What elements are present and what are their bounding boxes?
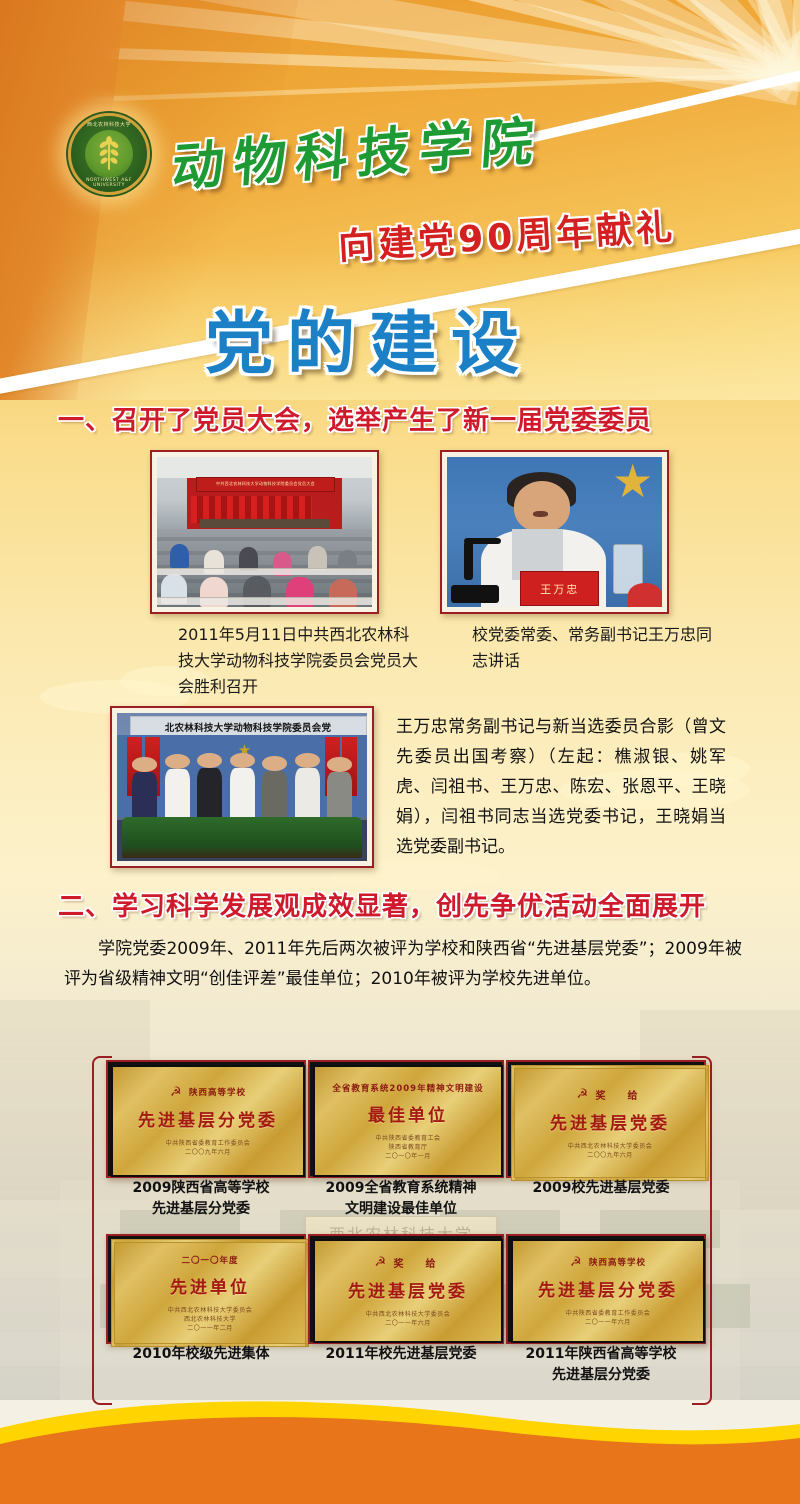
plaque-issuer-line: 中共西北农林科技大学委员会 (168, 1306, 253, 1315)
plaque-caption: 2009校先进基层党委 (506, 1178, 696, 1199)
hammer-sickle-icon: ☭ (170, 1086, 183, 1099)
plaque-face: 二〇一〇年度先进单位中共西北农林科技大学委员会西北农林科技大学二〇一一年二月 (111, 1239, 309, 1347)
plaque-main-text: 最佳单位 (368, 1101, 448, 1126)
plaque-face: 全省教育系统2009年精神文明建设最佳单位中共陕西省委教育工会陕西省教育厅二〇一… (313, 1065, 503, 1177)
plaque-top-text: 奖 给 (596, 1087, 644, 1102)
award-2009-best-unit-spiritual-civilization: 全省教育系统2009年精神文明建设最佳单位中共陕西省委教育工会陕西省教育厅二〇一… (308, 1060, 504, 1178)
plaque-issuer-and-date: 中共陕西省委教育工作委员会二〇一一年六月 (566, 1309, 651, 1327)
plaque-top-line: ☭陕西高等学校 (570, 1256, 646, 1269)
group-photo-caption: 王万忠常务副书记与新当选委员合影（曾文先委员出国考察）（左起：樵淑银、姚军虎、闫… (396, 712, 726, 862)
new-committee-group-photo: 北农林科技大学动物科技学院委员会党 ★ (110, 706, 374, 868)
plaque-main-text: 先进基层党委 (348, 1277, 468, 1302)
party-member-congress-photo: 中共西北农林科技大学动物科技学院委员会党员大会 ★ (150, 450, 379, 614)
section-1-heading: 一、召开了党员大会，选举产生了新一届党委委员 (58, 400, 652, 437)
plaque-face: ☭奖 给先进基层党委中共西北农林科技大学委员会二〇一一年六月 (313, 1239, 503, 1343)
speaker-photo-caption: 校党委常委、常务副书记王万忠同志讲话 (472, 622, 722, 674)
emblem-top-text: 西北农林科技大学 (71, 121, 147, 128)
person-1 (132, 757, 157, 822)
university-emblem-icon: 西北农林科技大学 NORTHWEST A&F UNIVERSITY (68, 113, 150, 195)
person-4 (230, 753, 255, 823)
plaque-date: 二〇〇九年六月 (568, 1151, 653, 1160)
plaque-caption: 2009陕西省高等学校先进基层分党委 (106, 1178, 296, 1220)
plaque-top-line: 全省教育系统2009年精神文明建设 (332, 1082, 483, 1094)
emblem-bottom-text: NORTHWEST A&F UNIVERSITY (71, 178, 147, 188)
award-2011-school-advanced-grassroots-party-committee: ☭奖 给先进基层党委中共西北农林科技大学委员会二〇一一年六月 (308, 1234, 504, 1344)
plaque-issuer-line: 西北农林科技大学 (168, 1315, 253, 1324)
plaque-issuer-and-date: 中共陕西省委教育工会陕西省教育厅二〇一〇年一月 (375, 1134, 440, 1161)
person-6 (295, 753, 320, 823)
plaque-top-line: ☭陕西高等学校 (170, 1086, 246, 1099)
plaque-top-line: ☭奖 给 (375, 1255, 442, 1270)
section-2-paragraph: 学院党委2009年、2011年先后两次被评为学校和陕西省“先进基层党委”；200… (64, 934, 742, 994)
plaque-face: ☭奖 给先进基层党委中共西北农林科技大学委员会二〇〇九年六月 (511, 1065, 709, 1181)
meeting-banner-text: 中共西北农林科技大学动物科技学院委员会党员大会 (196, 477, 336, 493)
plaque-caption-line: 先进基层分党委 (106, 1199, 296, 1220)
plaque-main-text: 先进基层分党委 (138, 1106, 278, 1131)
plaque-issuer-line: 中共陕西省委教育工会 (375, 1134, 440, 1143)
meeting-photo-content: 中共西北农林科技大学动物科技学院委员会党员大会 ★ (157, 457, 372, 607)
plaque-date: 二〇〇九年六月 (166, 1148, 251, 1157)
plaque-issuer-and-date: 中共西北农林科技大学委员会二〇一一年六月 (366, 1310, 451, 1328)
plaque-caption-line: 2011年校先进基层党委 (308, 1344, 494, 1365)
poster-canvas: 西北农林科技大学 西北农林科技大学 NORTHWEST A&F UNIVERSI… (0, 0, 800, 1504)
hammer-sickle-icon: ☭ (577, 1088, 590, 1101)
plaque-issuer-line: 中共陕西省委教育工作委员会 (166, 1139, 251, 1148)
wang-wanzhong-speech-photo: ★ 王万忠 (440, 450, 669, 614)
group-photo-banner-text: 北农林科技大学动物科技学院委员会党 (130, 716, 367, 737)
plaque-main-text: 先进基层分党委 (538, 1276, 678, 1301)
plaque-caption-line: 2009全省教育系统精神 (308, 1178, 494, 1199)
plaque-caption-line: 先进基层分党委 (506, 1365, 696, 1386)
plaque-date: 二〇一一年六月 (366, 1319, 451, 1328)
plaque-issuer-and-date: 中共西北农林科技大学委员会二〇〇九年六月 (568, 1142, 653, 1160)
plaque-face: ☭陕西高等学校先进基层分党委中共陕西省委教育工作委员会二〇〇九年六月 (111, 1065, 305, 1177)
plaque-face: ☭陕西高等学校先进基层分党委中共陕西省委教育工作委员会二〇一一年六月 (511, 1239, 705, 1343)
footer-wave (0, 1384, 800, 1504)
plaque-top-line: ☭奖 给 (577, 1087, 644, 1102)
plaque-caption: 2011年陕西省高等学校先进基层分党委 (506, 1344, 696, 1386)
plaque-caption: 2010年校级先进集体 (106, 1344, 296, 1365)
plaque-caption-line: 文明建设最佳单位 (308, 1199, 494, 1220)
hammer-sickle-icon: ☭ (570, 1256, 583, 1269)
plaque-caption-line: 2011年陕西省高等学校 (506, 1344, 696, 1365)
wheat-icon (97, 136, 121, 172)
emblem-inner (85, 130, 133, 178)
awards-gallery: ☭陕西高等学校先进基层分党委中共陕西省委教育工作委员会二〇〇九年六月2009陕西… (92, 1056, 712, 1401)
person-5 (262, 756, 287, 823)
plaque-issuer-line: 中共陕西省委教育工作委员会 (566, 1309, 651, 1318)
plaque-issuer-line: 中共西北农林科技大学委员会 (366, 1310, 451, 1319)
meeting-photo-caption: 2011年5月11日中共西北农林科技大学动物科技学院委员会党员大会胜利召开 (178, 622, 418, 700)
plaque-caption: 2011年校先进基层党委 (308, 1344, 494, 1365)
award-2011-shaanxi-advanced-branch-party-committee: ☭陕西高等学校先进基层分党委中共陕西省委教育工作委员会二〇一一年六月 (506, 1234, 706, 1344)
plaque-issuer-line: 陕西省教育厅 (375, 1143, 440, 1152)
plaque-top-line: 二〇一〇年度 (181, 1254, 238, 1266)
person-3 (197, 753, 222, 823)
plaque-top-text: 二〇一〇年度 (181, 1254, 238, 1266)
award-2009-school-advanced-grassroots-party-committee: ☭奖 给先进基层党委中共西北农林科技大学委员会二〇〇九年六月 (506, 1060, 706, 1178)
footer-wave-svg (0, 1384, 800, 1504)
plaque-issuer-and-date: 中共西北农林科技大学委员会西北农林科技大学二〇一一年二月 (168, 1306, 253, 1333)
plaque-main-text: 先进单位 (170, 1273, 250, 1298)
potted-plants-row (122, 817, 362, 858)
plaque-date: 二〇一一年六月 (566, 1318, 651, 1327)
page-main-title: 党的建设 (205, 288, 533, 387)
plaque-caption-line: 2010年校级先进集体 (106, 1344, 296, 1365)
plaque-top-text: 奖 给 (394, 1255, 442, 1270)
plaque-caption: 2009全省教育系统精神文明建设最佳单位 (308, 1178, 494, 1220)
plaque-caption-line: 2009陕西省高等学校 (106, 1178, 296, 1199)
plaque-issuer-line: 中共西北农林科技大学委员会 (568, 1142, 653, 1151)
plaque-main-text: 先进基层党委 (550, 1109, 670, 1134)
group-photo-content: 北农林科技大学动物科技学院委员会党 ★ (117, 713, 367, 861)
person-7 (327, 757, 352, 822)
award-2010-school-advanced-collective: 二〇一〇年度先进单位中共西北农林科技大学委员会西北农林科技大学二〇一一年二月 (106, 1234, 306, 1344)
plaque-issuer-and-date: 中共陕西省委教育工作委员会二〇〇九年六月 (166, 1139, 251, 1157)
person-2 (165, 754, 190, 822)
section-2-heading: 二、学习科学发展观成效显著，创先争优活动全面展开 (58, 886, 706, 923)
plaque-top-text: 全省教育系统2009年精神文明建设 (332, 1082, 483, 1094)
plaque-top-text: 陕西高等学校 (189, 1086, 246, 1098)
plaque-caption-line: 2009校先进基层党委 (506, 1178, 696, 1199)
award-2009-shaanxi-advanced-branch-party-committee: ☭陕西高等学校先进基层分党委中共陕西省委教育工作委员会二〇〇九年六月 (106, 1060, 306, 1178)
speaker-nameplate: 王万忠 (520, 571, 599, 606)
speaker-photo-content: ★ 王万忠 (447, 457, 662, 607)
plaque-date: 二〇一一年二月 (168, 1324, 253, 1333)
plaque-date: 二〇一〇年一月 (375, 1152, 440, 1161)
plaque-top-text: 陕西高等学校 (589, 1256, 646, 1268)
hammer-sickle-icon: ☭ (375, 1256, 388, 1269)
